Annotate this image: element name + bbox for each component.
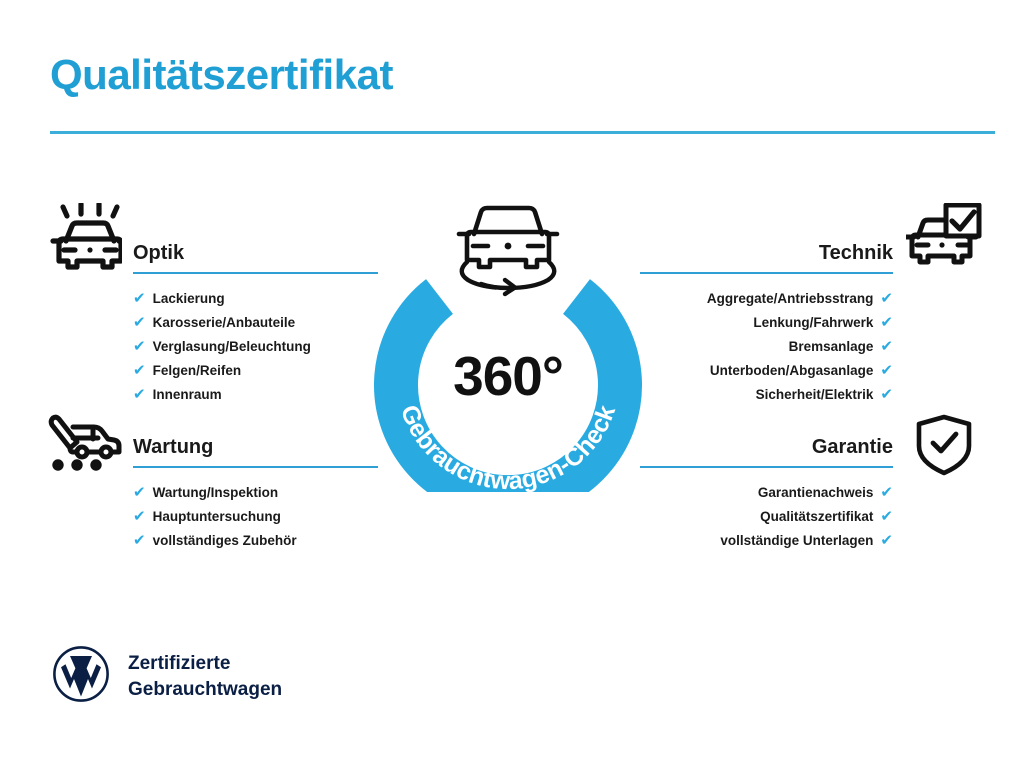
section-technik: Technik ✔Aggregate/Antriebsstrang✔Lenkun… [640, 240, 893, 407]
list-item: ✔Lackierung [133, 287, 378, 311]
check-icon: ✔ [880, 383, 893, 407]
list-item-label: Aggregate/Antriebsstrang [707, 287, 874, 311]
section-garantie: Garantie ✔Garantienachweis✔Qualitätszert… [640, 434, 893, 553]
badge-degrees: 360° [370, 344, 646, 408]
list-item: ✔Qualitätszertifikat [640, 505, 893, 529]
section-garantie-list: ✔Garantienachweis✔Qualitätszertifikat✔vo… [640, 481, 893, 553]
list-item-label: Karosserie/Anbauteile [153, 311, 296, 335]
list-item-label: Innenraum [153, 383, 222, 407]
list-item-label: vollständige Unterlagen [720, 529, 873, 553]
footer-branding: Zertifizierte Gebrauchtwagen [52, 645, 282, 708]
car-front-checkbox-icon [906, 203, 982, 276]
section-technik-title: Technik [640, 240, 893, 266]
section-garantie-title: Garantie [640, 434, 893, 460]
list-item: ✔Hauptuntersuchung [133, 505, 378, 529]
car-front-rotate-icon [448, 192, 568, 305]
footer-line-2: Gebrauchtwagen [128, 677, 282, 703]
section-technik-list: ✔Aggregate/Antriebsstrang✔Lenkung/Fahrwe… [640, 287, 893, 407]
section-technik-divider [640, 272, 893, 274]
shield-check-icon [915, 414, 973, 481]
list-item-label: Bremsanlage [789, 335, 874, 359]
check-icon: ✔ [880, 359, 893, 383]
section-optik-divider [133, 272, 378, 274]
section-technik-header: Technik [640, 240, 893, 274]
list-item: ✔Unterboden/Abgasanlage [640, 359, 893, 383]
check-icon: ✔ [880, 335, 893, 359]
list-item: ✔Karosserie/Anbauteile [133, 311, 378, 335]
section-garantie-header: Garantie [640, 434, 893, 468]
footer-text: Zertifizierte Gebrauchtwagen [128, 651, 282, 703]
list-item-label: Lenkung/Fahrwerk [753, 311, 873, 335]
list-item-label: Unterboden/Abgasanlage [710, 359, 874, 383]
car-service-tool-icon [46, 414, 122, 477]
check-icon: ✔ [133, 529, 146, 553]
list-item: ✔Garantienachweis [640, 481, 893, 505]
check-icon: ✔ [133, 335, 146, 359]
section-wartung-title: Wartung [133, 434, 378, 460]
car-front-shine-icon [48, 203, 122, 280]
list-item-label: Garantienachweis [758, 481, 874, 505]
section-optik-list: ✔Lackierung✔Karosserie/Anbauteile✔Vergla… [133, 287, 378, 407]
section-optik-header: Optik [133, 240, 378, 274]
list-item: ✔Innenraum [133, 383, 378, 407]
section-wartung: Wartung ✔Wartung/Inspektion✔Hauptuntersu… [133, 434, 378, 553]
title-divider [50, 131, 995, 134]
section-garantie-divider [640, 466, 893, 468]
check-icon: ✔ [880, 481, 893, 505]
list-item: ✔Verglasung/Beleuchtung [133, 335, 378, 359]
list-item: ✔Felgen/Reifen [133, 359, 378, 383]
list-item-label: Felgen/Reifen [153, 359, 242, 383]
list-item-label: Hauptuntersuchung [153, 505, 281, 529]
check-icon: ✔ [133, 383, 146, 407]
360-check-badge: Gebrauchtwagen-Check 36 [370, 192, 646, 492]
section-wartung-divider [133, 466, 378, 468]
footer-line-1: Zertifizierte [128, 651, 282, 677]
list-item: ✔Sicherheit/Elektrik [640, 383, 893, 407]
vw-logo [52, 645, 110, 708]
list-item-label: vollständiges Zubehör [153, 529, 297, 553]
check-icon: ✔ [880, 287, 893, 311]
section-optik-title: Optik [133, 240, 378, 266]
section-wartung-list: ✔Wartung/Inspektion✔Hauptuntersuchung✔vo… [133, 481, 378, 553]
check-icon: ✔ [880, 311, 893, 335]
list-item: ✔Wartung/Inspektion [133, 481, 378, 505]
list-item: ✔Aggregate/Antriebsstrang [640, 287, 893, 311]
check-icon: ✔ [880, 529, 893, 553]
list-item-label: Lackierung [153, 287, 225, 311]
section-optik: Optik ✔Lackierung✔Karosserie/Anbauteile✔… [133, 240, 378, 407]
list-item-label: Qualitätszertifikat [760, 505, 873, 529]
check-icon: ✔ [133, 359, 146, 383]
list-item: ✔Lenkung/Fahrwerk [640, 311, 893, 335]
check-icon: ✔ [133, 481, 146, 505]
certificate-page: Qualitätszertifikat [0, 0, 1024, 768]
check-icon: ✔ [133, 311, 146, 335]
page-title: Qualitätszertifikat [50, 52, 393, 98]
check-icon: ✔ [133, 287, 146, 311]
list-item: ✔Bremsanlage [640, 335, 893, 359]
check-icon: ✔ [880, 505, 893, 529]
section-wartung-header: Wartung [133, 434, 378, 468]
list-item: ✔vollständiges Zubehör [133, 529, 378, 553]
list-item-label: Wartung/Inspektion [153, 481, 279, 505]
check-icon: ✔ [133, 505, 146, 529]
list-item-label: Verglasung/Beleuchtung [153, 335, 311, 359]
list-item: ✔vollständige Unterlagen [640, 529, 893, 553]
list-item-label: Sicherheit/Elektrik [756, 383, 874, 407]
